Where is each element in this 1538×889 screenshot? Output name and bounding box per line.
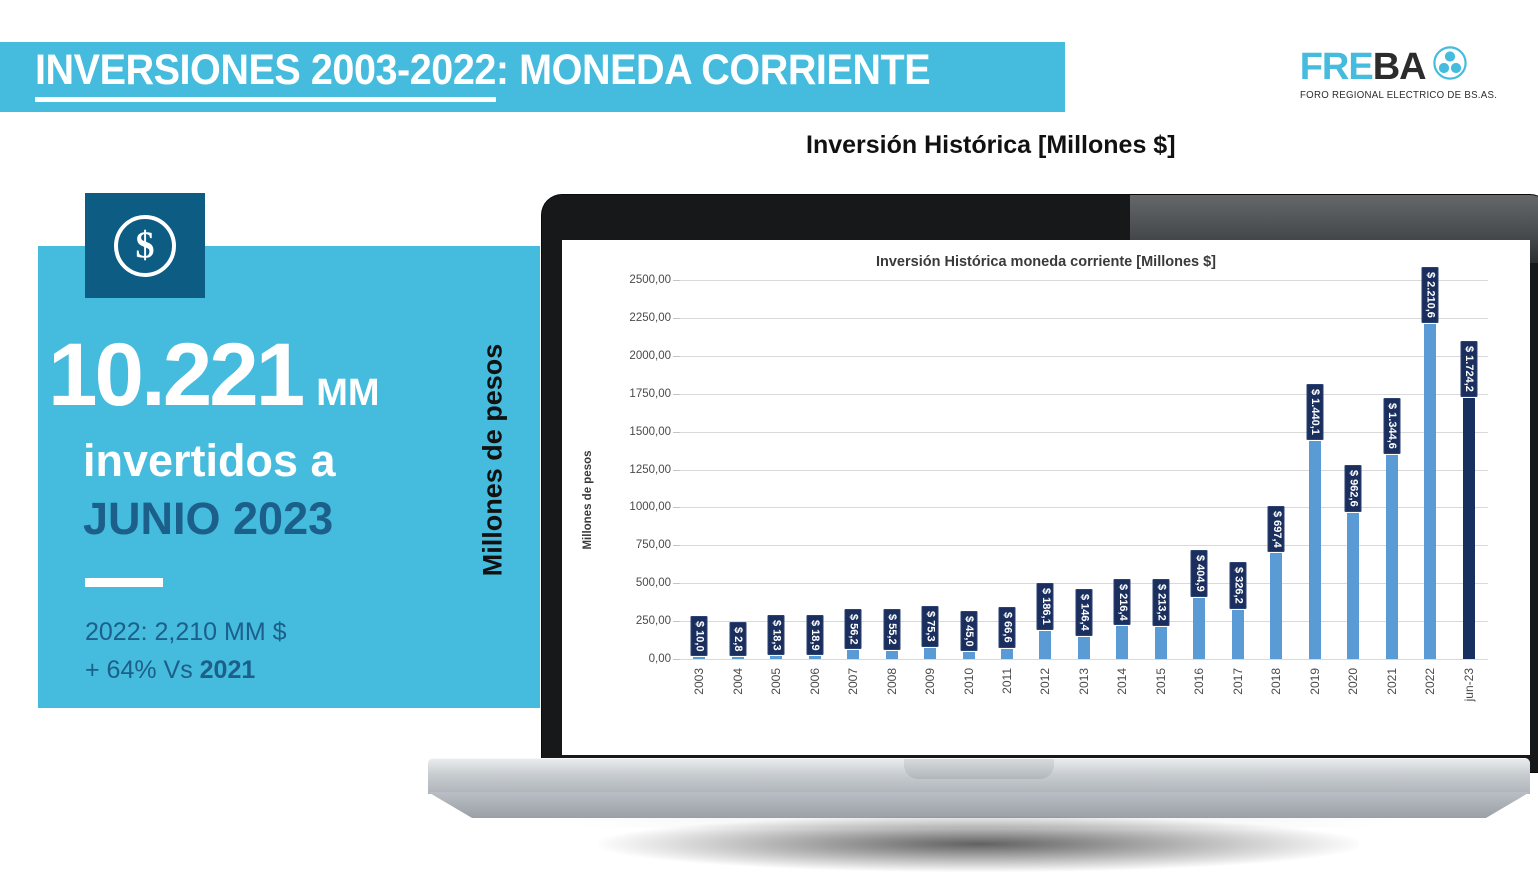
x-tick-label: 2010 bbox=[962, 668, 976, 695]
x-tick: 2009 bbox=[930, 668, 957, 682]
kpi-divider bbox=[85, 578, 163, 587]
y-tickmark bbox=[673, 394, 680, 395]
y-tickmark bbox=[673, 280, 680, 281]
x-tick-label: 2006 bbox=[808, 668, 822, 695]
freba-logo: FREBA FORO REGIONAL ELECTRICO DE BS.AS. bbox=[1300, 46, 1514, 101]
kpi-note-previous-year: 2022: 2,210 MM $ bbox=[85, 620, 287, 645]
x-tick-label: 2013 bbox=[1077, 668, 1091, 695]
chart-y-axis-title-label: Millones de pesos bbox=[582, 450, 594, 549]
y-tick-label: 0,00 bbox=[649, 653, 671, 665]
laptop-drop-shadow bbox=[599, 816, 1359, 872]
chart-bar-group[interactable]: $ 404,92016 bbox=[1180, 280, 1218, 659]
chart-bar-group[interactable]: $ 1.724,2jun-23 bbox=[1449, 280, 1487, 659]
kpi-headline: 10.221 MM bbox=[48, 330, 380, 419]
x-tick: 2019 bbox=[1315, 668, 1342, 682]
x-tick: 2016 bbox=[1199, 668, 1226, 682]
x-tick-label: 2019 bbox=[1308, 668, 1322, 695]
x-tick-label: 2014 bbox=[1115, 668, 1129, 695]
y-tick-label: 1000,00 bbox=[629, 501, 671, 513]
x-tick-label: 2012 bbox=[1038, 668, 1052, 695]
chart-bar-value-label: $ 75,3 bbox=[922, 606, 939, 647]
x-tick: 2012 bbox=[1045, 668, 1072, 682]
y-tickmark bbox=[673, 432, 680, 433]
y-tick-label: 1500,00 bbox=[629, 426, 671, 438]
chart-bar-value-label: $ 404,9 bbox=[1191, 550, 1208, 597]
laptop-base-notch bbox=[904, 759, 1054, 779]
x-tick-label: 2021 bbox=[1385, 668, 1399, 695]
kpi-subtitle-line2: JUNIO 2023 bbox=[83, 496, 333, 541]
dollar-icon-box: $ bbox=[85, 193, 205, 298]
three-circles-icon bbox=[1433, 46, 1467, 88]
chart-bar[interactable] bbox=[886, 651, 898, 659]
chart-bar[interactable] bbox=[1039, 631, 1051, 659]
x-tick: 2021 bbox=[1392, 668, 1419, 682]
y-tick-label: 250,00 bbox=[636, 615, 671, 627]
chart-bar[interactable] bbox=[1193, 598, 1205, 659]
x-tick: 2006 bbox=[815, 668, 842, 682]
chart-bar-group[interactable]: $ 10,02003 bbox=[680, 280, 718, 659]
chart-plot-area: 0,00250,00500,00750,001000,001250,001500… bbox=[680, 280, 1488, 659]
chart-bar-value-label: $ 326,2 bbox=[1229, 562, 1246, 609]
laptop-screen: Inversión Histórica moneda corriente [Mi… bbox=[562, 240, 1530, 755]
chart-bar-group[interactable]: $ 2,82004 bbox=[718, 280, 756, 659]
kpi-growth-year: 2021 bbox=[200, 656, 256, 684]
laptop-mockup: Inversión Histórica moneda corriente [Mi… bbox=[420, 190, 1538, 850]
page-title: INVERSIONES 2003-2022: MONEDA CORRIENTE bbox=[35, 46, 930, 95]
x-tick: 2022 bbox=[1430, 668, 1457, 682]
chart-bar-group[interactable]: $ 962,62020 bbox=[1334, 280, 1372, 659]
x-tick: 2018 bbox=[1276, 668, 1303, 682]
x-tick: 2010 bbox=[969, 668, 996, 682]
kpi-amount-unit: MM bbox=[316, 374, 379, 412]
x-tick-label: 2003 bbox=[692, 668, 706, 695]
laptop-lid: Inversión Histórica moneda corriente [Mi… bbox=[542, 195, 1538, 772]
chart-bar[interactable] bbox=[1116, 626, 1128, 659]
x-tick-label: 2005 bbox=[769, 668, 783, 695]
page-title-rest: : MONEDA CORRIENTE bbox=[496, 46, 930, 94]
chart-bar-value-label: $ 186,1 bbox=[1037, 583, 1054, 630]
y-tickmark bbox=[673, 356, 680, 357]
x-tick: 2014 bbox=[1122, 668, 1149, 682]
page-title-underlined: INVERSIONES 2003-2022 bbox=[35, 46, 496, 102]
x-tick: 2015 bbox=[1161, 668, 1188, 682]
logo-tagline: FORO REGIONAL ELECTRICO DE BS.AS. bbox=[1300, 89, 1497, 101]
x-tick: 2007 bbox=[853, 668, 880, 682]
laptop-base bbox=[420, 758, 1538, 830]
chart-bar-value-label: $ 1.344,6 bbox=[1383, 398, 1400, 454]
chart-bar[interactable] bbox=[1270, 553, 1282, 659]
y-tickmark bbox=[673, 621, 680, 622]
x-tick: 2013 bbox=[1084, 668, 1111, 682]
chart-bar[interactable] bbox=[809, 656, 821, 659]
chart-bar-group[interactable]: $ 18,92006 bbox=[795, 280, 833, 659]
x-tick: 2003 bbox=[699, 668, 726, 682]
x-tick-label: 2011 bbox=[1000, 668, 1014, 694]
chart-bar-value-label: $ 216,4 bbox=[1114, 579, 1131, 626]
chart-bar-value-label: $ 45,0 bbox=[960, 611, 977, 652]
x-tick-label: 2017 bbox=[1231, 668, 1245, 695]
chart-bar[interactable] bbox=[1155, 627, 1167, 659]
laptop-base-top bbox=[428, 758, 1530, 794]
x-tick-label: 2016 bbox=[1192, 668, 1206, 695]
chart-bar[interactable] bbox=[1232, 610, 1244, 659]
y-tickmark bbox=[673, 659, 680, 660]
y-tickmark bbox=[673, 545, 680, 546]
chart-bar-group[interactable]: $ 326,22017 bbox=[1219, 280, 1257, 659]
kpi-amount: 10.221 bbox=[48, 330, 302, 419]
chart-bar-group[interactable]: $ 146,42013 bbox=[1065, 280, 1103, 659]
chart-bar-value-label: $ 146,4 bbox=[1075, 589, 1092, 636]
chart-bar-value-label: $ 962,6 bbox=[1345, 465, 1362, 512]
kpi-growth-prefix: + 64% Vs bbox=[85, 656, 200, 684]
gridline bbox=[680, 659, 1488, 660]
chart-bar-group[interactable]: $ 697,42018 bbox=[1257, 280, 1295, 659]
y-tick-label: 1250,00 bbox=[629, 464, 671, 476]
chart-bar[interactable] bbox=[693, 657, 705, 659]
x-tick: 2020 bbox=[1353, 668, 1380, 682]
y-tick-label: 1750,00 bbox=[629, 388, 671, 400]
y-tickmark bbox=[673, 507, 680, 508]
x-tick: 2017 bbox=[1238, 668, 1265, 682]
chart-bar-value-label: $ 2,8 bbox=[729, 622, 746, 656]
x-tick: 2008 bbox=[892, 668, 919, 682]
logo-word-fre: FRE bbox=[1300, 47, 1373, 87]
chart-bar[interactable] bbox=[924, 648, 936, 659]
x-tick-label: 2015 bbox=[1154, 668, 1168, 695]
chart-bar[interactable] bbox=[963, 652, 975, 659]
laptop-base-bottom bbox=[428, 792, 1530, 818]
x-tick: 2011 bbox=[1007, 668, 1033, 682]
chart-bar-group[interactable]: $ 66,62011 bbox=[988, 280, 1026, 659]
chart-bar-group[interactable]: $ 1.344,62021 bbox=[1372, 280, 1410, 659]
chart-bar-value-label: $ 18,3 bbox=[768, 615, 785, 656]
y-tick-label: 750,00 bbox=[636, 539, 671, 551]
chart-bar-value-label: $ 697,4 bbox=[1268, 506, 1285, 553]
x-tick-label: 2009 bbox=[923, 668, 937, 695]
chart-bar-group[interactable]: $ 45,02010 bbox=[949, 280, 987, 659]
y-tick-label: 2500,00 bbox=[629, 274, 671, 286]
dollar-sign-glyph: $ bbox=[136, 226, 155, 264]
x-tick: jun-23 bbox=[1469, 668, 1502, 682]
chart-supertitle: Inversión Histórica [Millones $] bbox=[806, 131, 1176, 160]
chart-bar-value-label: $ 10,0 bbox=[691, 616, 708, 657]
chart-bar-group[interactable]: $ 216,42014 bbox=[1103, 280, 1141, 659]
x-tick-label: 2004 bbox=[731, 668, 745, 695]
y-tickmark bbox=[673, 470, 680, 471]
y-tickmark bbox=[673, 318, 680, 319]
x-tick-label: 2018 bbox=[1269, 668, 1283, 695]
y-tick-label: 2000,00 bbox=[629, 350, 671, 362]
chart-bar[interactable] bbox=[770, 656, 782, 659]
chart-bar[interactable] bbox=[1463, 398, 1475, 659]
x-tick-label: 2007 bbox=[846, 668, 860, 695]
chart-bar[interactable] bbox=[1386, 455, 1398, 659]
x-tick-label: 2020 bbox=[1346, 668, 1360, 695]
chart-bar-value-label: $ 56,2 bbox=[845, 609, 862, 650]
chart-bar-value-label: $ 1.440,1 bbox=[1306, 384, 1323, 440]
chart-bar[interactable] bbox=[1424, 324, 1436, 659]
chart-bar-group[interactable]: $ 186,12012 bbox=[1026, 280, 1064, 659]
chart-bar[interactable] bbox=[1309, 441, 1321, 659]
chart-bar[interactable] bbox=[732, 657, 744, 659]
chart-bar-group[interactable]: $ 18,32005 bbox=[757, 280, 795, 659]
kpi-note-growth: + 64% Vs 2021 bbox=[85, 658, 255, 683]
chart-bar-value-label: $ 2.210,6 bbox=[1422, 267, 1439, 323]
chart-bars: $ 10,02003$ 2,82004$ 18,32005$ 18,92006$… bbox=[680, 280, 1488, 659]
y-tick-label: 500,00 bbox=[636, 577, 671, 589]
x-tick: 2005 bbox=[776, 668, 803, 682]
x-tick-label: 2008 bbox=[885, 668, 899, 695]
logo-wordmark: FREBA bbox=[1300, 46, 1514, 88]
chart-title: Inversión Histórica moneda corriente [Mi… bbox=[562, 254, 1530, 270]
chart-bar[interactable] bbox=[1078, 637, 1090, 659]
chart-bar-value-label: $ 66,6 bbox=[998, 607, 1015, 648]
chart-bar-value-label: $ 55,2 bbox=[883, 609, 900, 650]
chart-bar-value-label: $ 1.724,2 bbox=[1460, 341, 1477, 397]
y-tick-label: 2250,00 bbox=[629, 312, 671, 324]
chart-bar-group[interactable]: $ 2.210,62022 bbox=[1411, 280, 1449, 659]
y-tickmark bbox=[673, 583, 680, 584]
chart-bar-group[interactable]: $ 55,22008 bbox=[872, 280, 910, 659]
chart-bar-group[interactable]: $ 1.440,12019 bbox=[1296, 280, 1334, 659]
chart-bar[interactable] bbox=[847, 650, 859, 659]
chart-bar-value-label: $ 213,2 bbox=[1152, 579, 1169, 626]
x-tick: 2004 bbox=[738, 668, 765, 682]
kpi-subtitle-line1: invertidos a bbox=[83, 438, 336, 483]
x-tick-label: 2022 bbox=[1423, 668, 1437, 695]
chart-y-axis-title: Millones de pesos bbox=[578, 410, 598, 590]
chart-bar-value-label: $ 18,9 bbox=[806, 615, 823, 656]
x-tick-label: jun-23 bbox=[1462, 668, 1476, 701]
chart-bar[interactable] bbox=[1347, 513, 1359, 659]
chart-bar[interactable] bbox=[1001, 649, 1013, 659]
logo-word-ba: BA bbox=[1373, 47, 1426, 87]
chart-bar-group[interactable]: $ 213,22015 bbox=[1142, 280, 1180, 659]
chart-bar-group[interactable]: $ 75,32009 bbox=[911, 280, 949, 659]
chart-bar-group[interactable]: $ 56,22007 bbox=[834, 280, 872, 659]
